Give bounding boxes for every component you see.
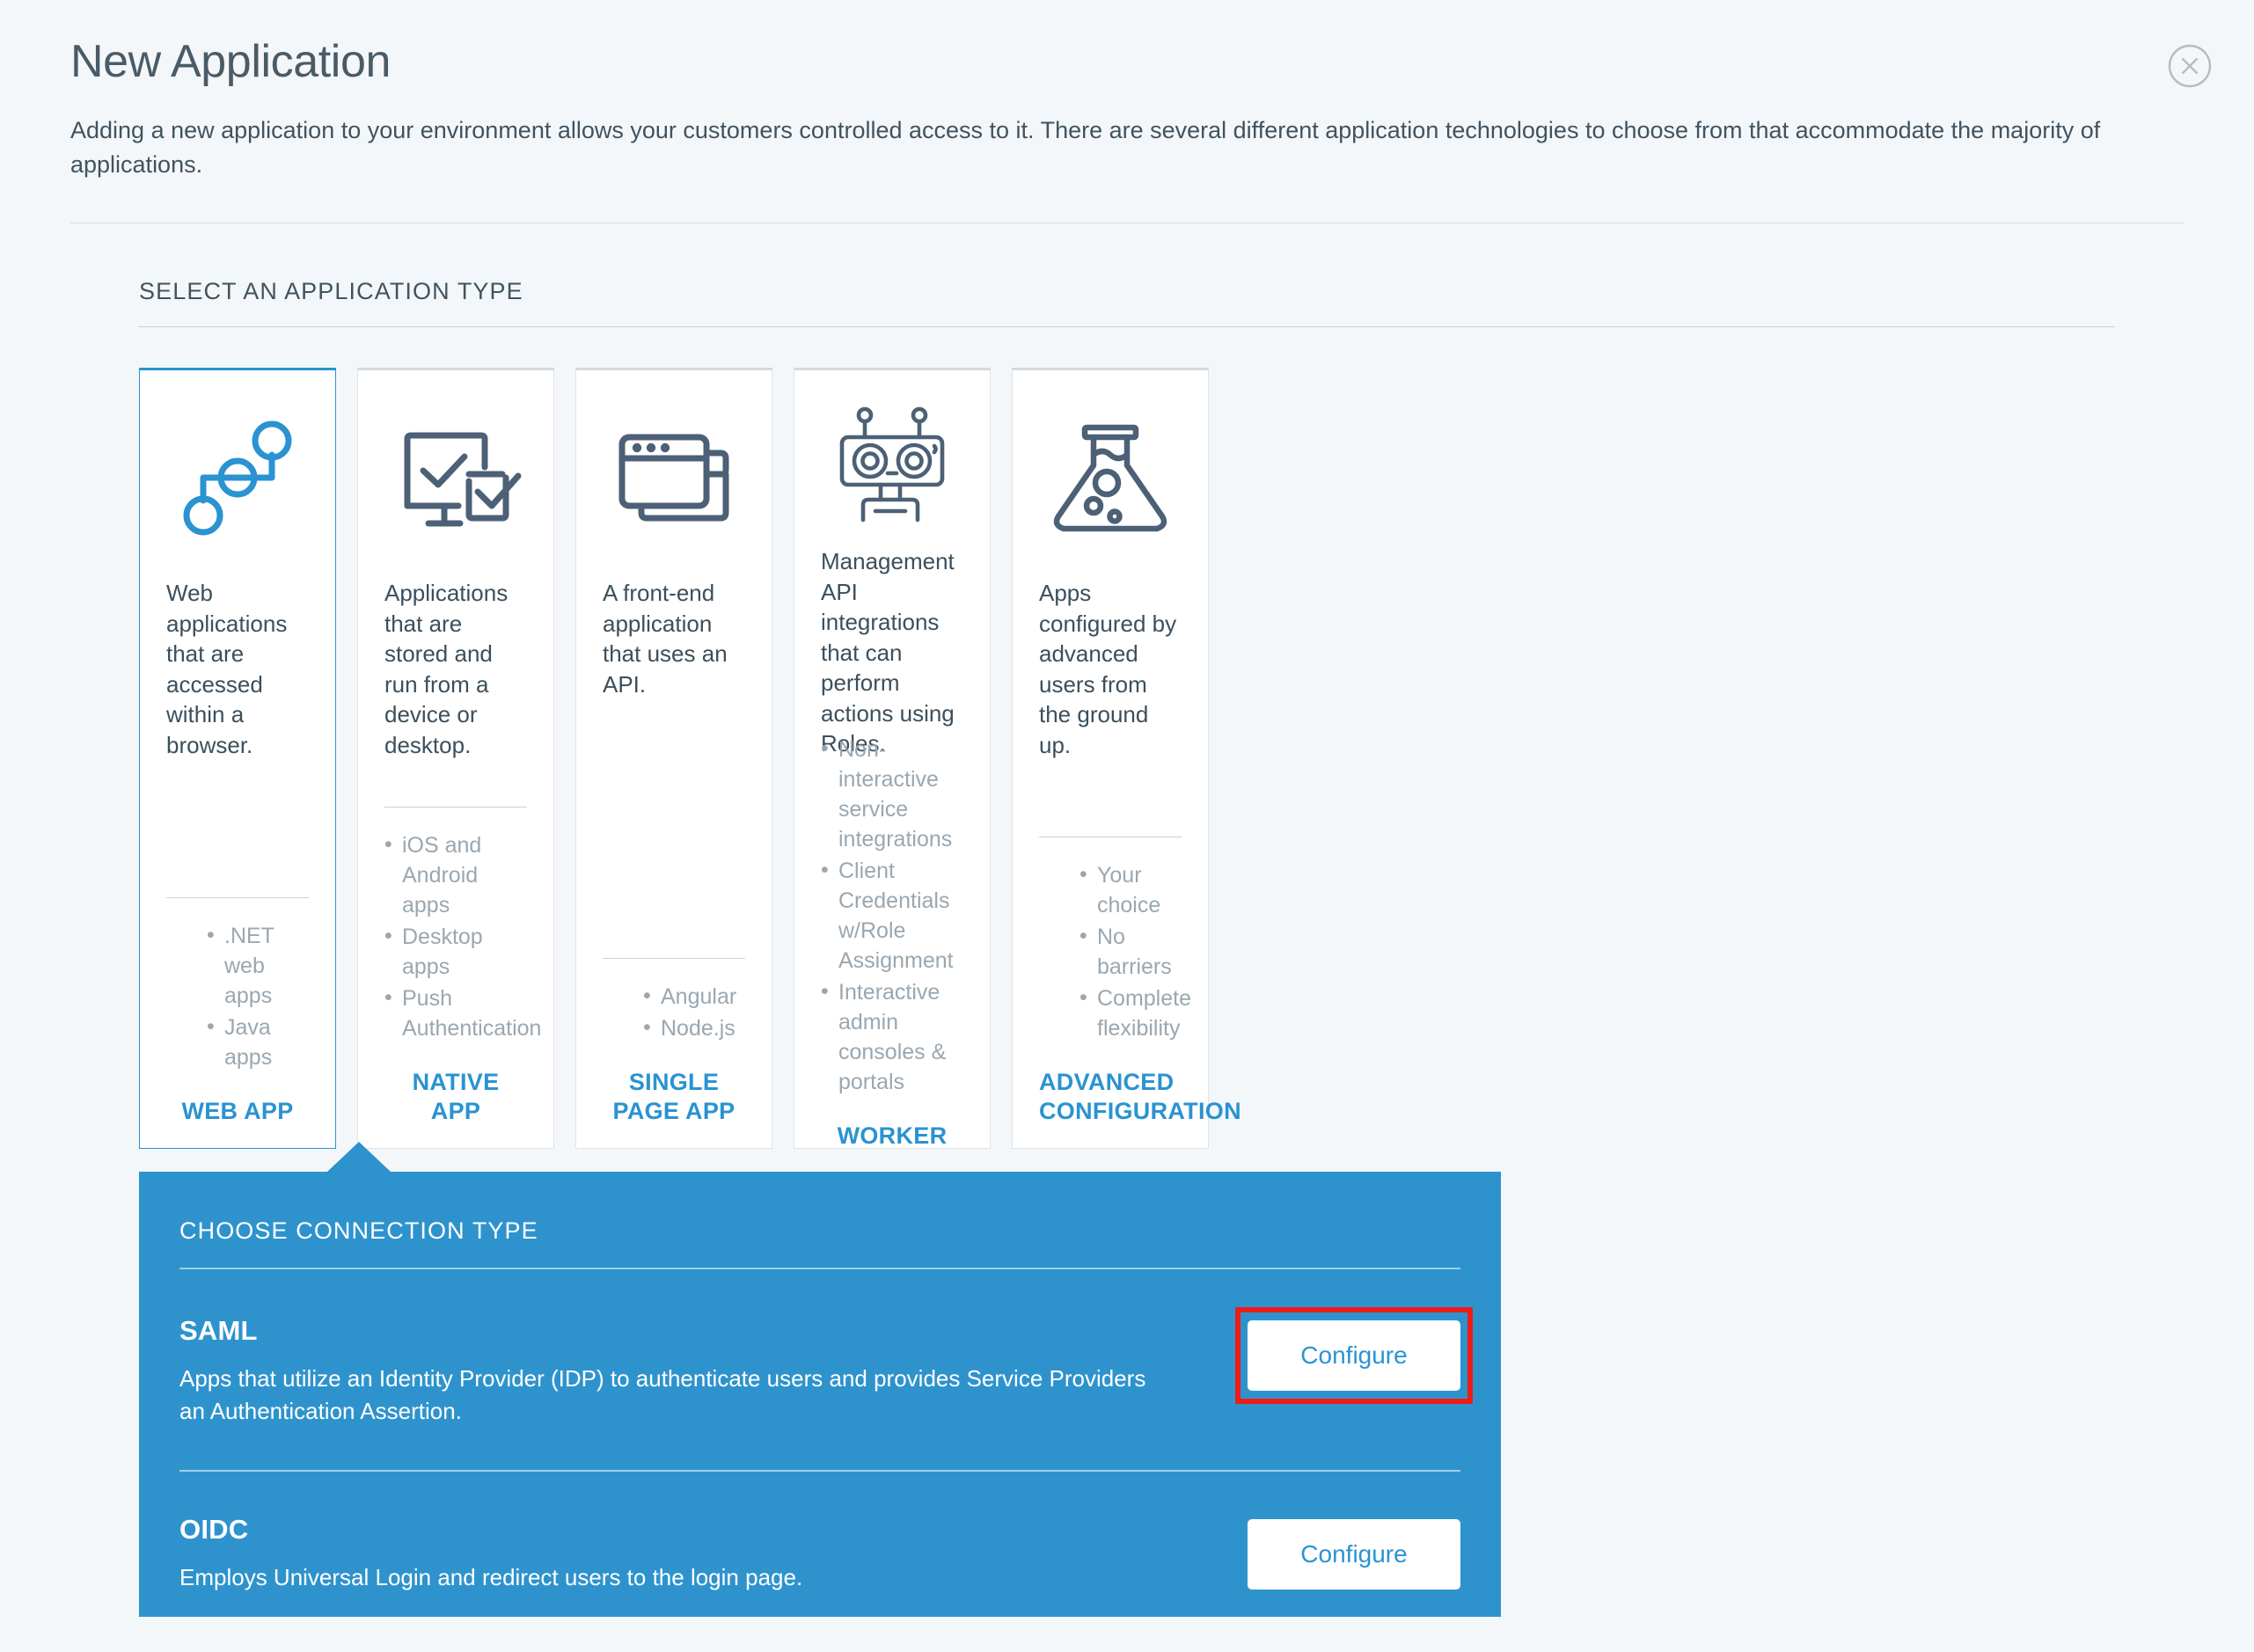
- header-divider: [70, 223, 2184, 223]
- oidc-configure-wrap: Configure: [1248, 1514, 1460, 1590]
- list-item: Client Credentials w/Role Assignment: [821, 856, 963, 976]
- connection-option-separator: [179, 1470, 1460, 1472]
- list-item: Non-interactive service integrations: [821, 735, 963, 854]
- connection-description: Apps that utilize an Identity Provider (…: [179, 1363, 1156, 1428]
- new-application-dialog: New Application Adding a new application…: [0, 0, 2254, 1652]
- section-divider: [139, 326, 2115, 327]
- list-item: Desktop apps: [384, 922, 527, 982]
- flask-icon: [1039, 400, 1182, 555]
- connection-description: Employs Universal Login and redirect use…: [179, 1561, 802, 1594]
- card-divider: [1039, 837, 1182, 837]
- card-bullets: Your choice No barriers Complete flexibi…: [1039, 860, 1182, 1045]
- oidc-configure-button[interactable]: Configure: [1248, 1519, 1460, 1590]
- list-item: iOS and Android apps: [384, 830, 527, 920]
- card-description: A front-end application that uses an API…: [603, 578, 745, 743]
- card-cta-worker[interactable]: WORKER: [821, 1122, 963, 1173]
- list-item: Complete flexibility: [1079, 983, 1182, 1043]
- card-bullets: iOS and Android apps Desktop apps Push A…: [384, 830, 527, 1045]
- close-icon[interactable]: [2168, 44, 2212, 88]
- card-bullets: Angular Node.js: [603, 982, 745, 1045]
- dialog-header: New Application Adding a new application…: [0, 0, 2254, 182]
- card-bullets: Non-interactive service integrations Cli…: [821, 735, 963, 1099]
- application-type-grid: Web applications that are accessed withi…: [139, 368, 1209, 1149]
- list-item: Push Authentication: [384, 983, 527, 1043]
- panel-pointer-triangle: [327, 1142, 391, 1172]
- connection-panel-divider: [179, 1268, 1460, 1269]
- app-type-card-advanced-configuration[interactable]: Apps configured by advanced users from t…: [1012, 368, 1209, 1149]
- card-cta-web-app[interactable]: WEB APP: [166, 1097, 309, 1148]
- list-item: Your choice: [1079, 860, 1182, 920]
- connection-option-saml: SAML Apps that utilize an Identity Provi…: [179, 1269, 1460, 1428]
- browser-windows-icon: [603, 400, 745, 555]
- nodes-graph-icon: [166, 400, 309, 555]
- list-item: Node.js: [643, 1013, 745, 1043]
- card-cta-single-page-app[interactable]: SINGLE PAGE APP: [603, 1068, 745, 1148]
- card-cta-advanced-configuration[interactable]: ADVANCED CONFIGURATION: [1039, 1068, 1182, 1148]
- list-item: .NET web apps: [207, 921, 309, 1011]
- saml-configure-highlight: Configure: [1248, 1315, 1460, 1391]
- section-label: SELECT AN APPLICATION TYPE: [139, 278, 2254, 305]
- connection-option-oidc: OIDC Employs Universal Login and redirec…: [179, 1472, 1460, 1594]
- monitor-checklist-icon: [384, 400, 527, 555]
- card-bullets: .NET web apps Java apps: [166, 921, 309, 1074]
- list-item: Angular: [643, 982, 745, 1012]
- card-description: Management API integrations that can per…: [821, 546, 963, 712]
- app-type-card-single-page-app[interactable]: A front-end application that uses an API…: [575, 368, 772, 1149]
- card-divider: [166, 897, 309, 898]
- saml-configure-button[interactable]: Configure: [1248, 1320, 1460, 1391]
- page-title: New Application: [70, 37, 2184, 87]
- choose-connection-type-panel: CHOOSE CONNECTION TYPE SAML Apps that ut…: [139, 1172, 1501, 1617]
- card-divider: [603, 958, 745, 959]
- connection-name: OIDC: [179, 1514, 802, 1546]
- card-cta-native-app[interactable]: NATIVE APP: [384, 1068, 527, 1148]
- card-description: Web applications that are accessed withi…: [166, 578, 309, 760]
- card-description: Apps configured by advanced users from t…: [1039, 578, 1182, 760]
- card-divider: [384, 807, 527, 808]
- app-type-card-native-app[interactable]: Applications that are stored and run fro…: [357, 368, 554, 1149]
- app-type-card-web-app[interactable]: Web applications that are accessed withi…: [139, 368, 336, 1149]
- card-description: Applications that are stored and run fro…: [384, 578, 527, 760]
- connection-panel-title: CHOOSE CONNECTION TYPE: [179, 1172, 1460, 1245]
- app-type-card-worker[interactable]: Management API integrations that can per…: [794, 368, 991, 1149]
- list-item: Interactive admin consoles & portals: [821, 977, 963, 1097]
- list-item: No barriers: [1079, 922, 1182, 982]
- list-item: Java apps: [207, 1012, 309, 1072]
- connection-name: SAML: [179, 1315, 1156, 1347]
- robot-icon: [821, 400, 963, 523]
- page-description: Adding a new application to your environ…: [70, 113, 2184, 182]
